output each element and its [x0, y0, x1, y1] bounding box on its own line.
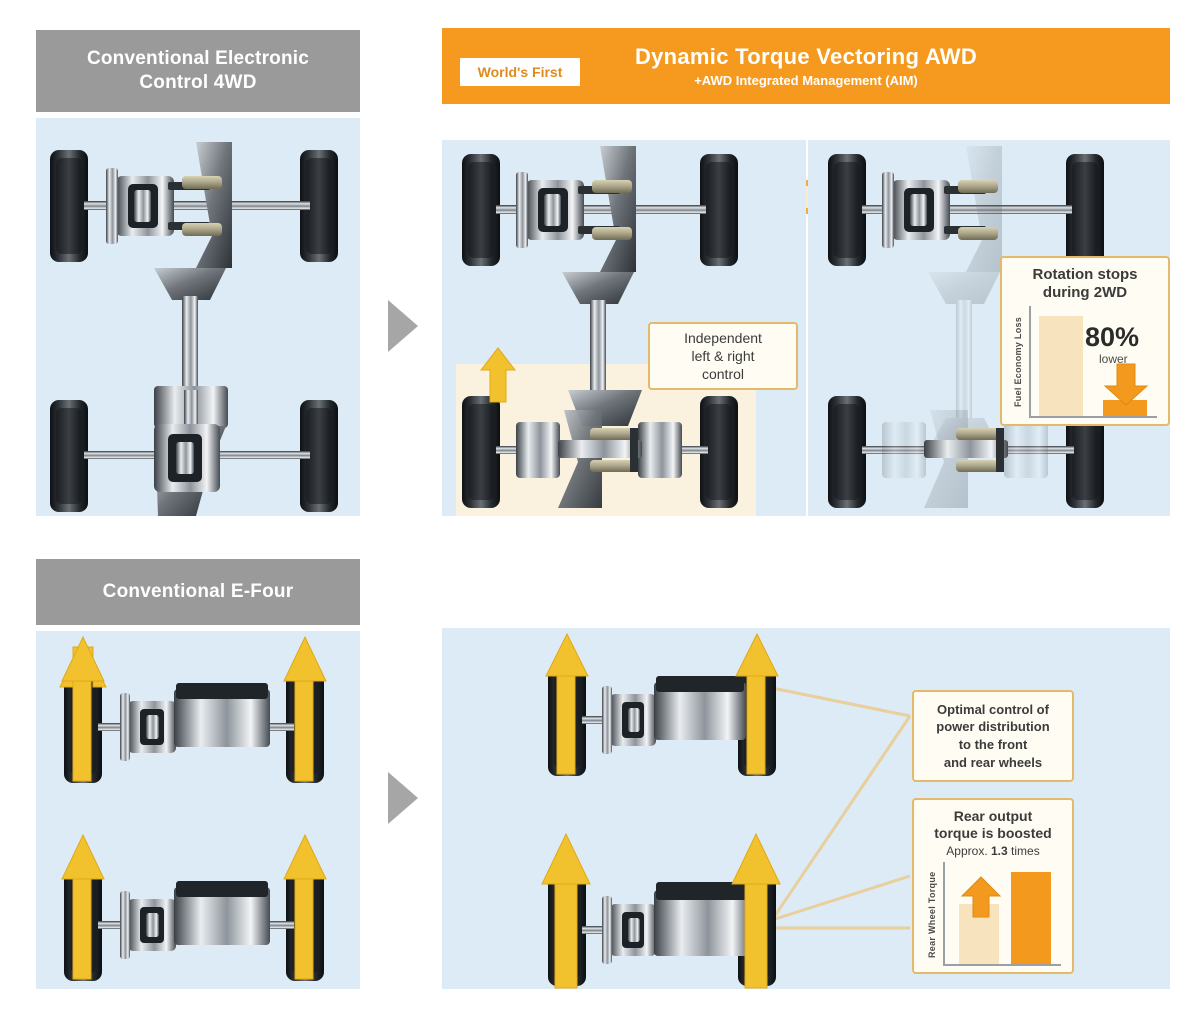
right-triangle-arrow-icon — [386, 770, 420, 826]
callout-line-4: and rear wheels — [944, 754, 1042, 772]
approx-suffix: times — [1011, 844, 1040, 858]
down-block-arrow-icon — [1103, 364, 1149, 406]
chart-x-axis — [943, 964, 1061, 966]
callout-independent-control: Independent left & right control — [648, 322, 798, 390]
panel-subtitle: +AWD Integrated Management (AIM) — [694, 73, 918, 88]
header-label: Conventional E-Four — [103, 580, 294, 604]
chart-y-axis-label: Rear Wheel Torque — [927, 864, 937, 966]
worlds-first-badge: World's First — [460, 58, 580, 86]
chart-y-axis — [1029, 306, 1031, 418]
chart-x-axis — [1029, 416, 1157, 418]
callout-line-2: left & right — [691, 347, 754, 365]
callout-optimal-control: Optimal control of power distribution to… — [912, 690, 1074, 782]
front-axle-group-dc — [828, 146, 1104, 272]
callout-title-line-1: Rotation stops — [1033, 266, 1138, 284]
callout-line-1: Optimal control of — [937, 701, 1049, 719]
e-four-rear-axle — [64, 869, 324, 981]
diagram-conventional-e-four — [36, 631, 360, 989]
separator-arrow-top — [386, 298, 420, 354]
callout-rear-output-torque: Rear output torque is boosted Approx. 1.… — [912, 798, 1074, 974]
leader-lines — [772, 688, 910, 928]
chart-rear-wheel-torque: Rear Wheel Torque — [943, 862, 1061, 966]
chart-bar-conventional — [1039, 316, 1083, 416]
new-e-four-rear-axle — [548, 876, 776, 986]
chart-y-axis — [943, 862, 945, 966]
callout-title-line-2: torque is boosted — [934, 825, 1051, 842]
chart-fuel-economy-loss: Fuel Economy Loss 80% lower — [1029, 306, 1157, 418]
diagram-conventional-4wd — [36, 118, 360, 516]
callout-approx-line: Approx. 1.3 times — [946, 844, 1039, 858]
e-four-front-axle — [62, 641, 324, 783]
front-axle-group — [50, 142, 338, 268]
callout-rotation-stops: Rotation stops during 2WD Fuel Economy L… — [1000, 256, 1170, 426]
drivetrain-4wd-svg — [36, 118, 360, 516]
callout-line-2: power distribution — [936, 718, 1049, 736]
panel-header-conventional-e-four: Conventional E-Four — [36, 559, 360, 625]
separator-arrow-bottom — [386, 770, 420, 826]
header-line-1: Conventional Electronic — [87, 47, 309, 71]
panel-header-conventional-4wd: Conventional Electronic Control 4WD — [36, 30, 360, 112]
chart-value-80-percent: 80% — [1085, 324, 1139, 351]
right-triangle-arrow-icon — [386, 298, 420, 354]
e-four-conventional-svg — [36, 631, 360, 989]
up-block-arrow-icon — [961, 876, 1001, 918]
approx-value: 1.3 — [991, 844, 1008, 858]
new-e-four-front-axle — [548, 666, 776, 776]
front-axle-group-tv — [462, 146, 738, 272]
callout-title-line-1: Rear output — [954, 808, 1033, 825]
callout-line-3: to the front — [959, 736, 1028, 754]
panel-title: Dynamic Torque Vectoring AWD — [635, 44, 977, 70]
callout-line-1: Independent — [684, 329, 762, 347]
callout-title-line-2: during 2WD — [1043, 284, 1127, 302]
chart-bar-new-efour — [1011, 872, 1051, 964]
callout-line-3: control — [702, 365, 744, 383]
chart-y-axis-label: Fuel Economy Loss — [1013, 310, 1023, 414]
approx-prefix: Approx. — [946, 844, 987, 858]
header-line-2: Control 4WD — [87, 71, 309, 95]
